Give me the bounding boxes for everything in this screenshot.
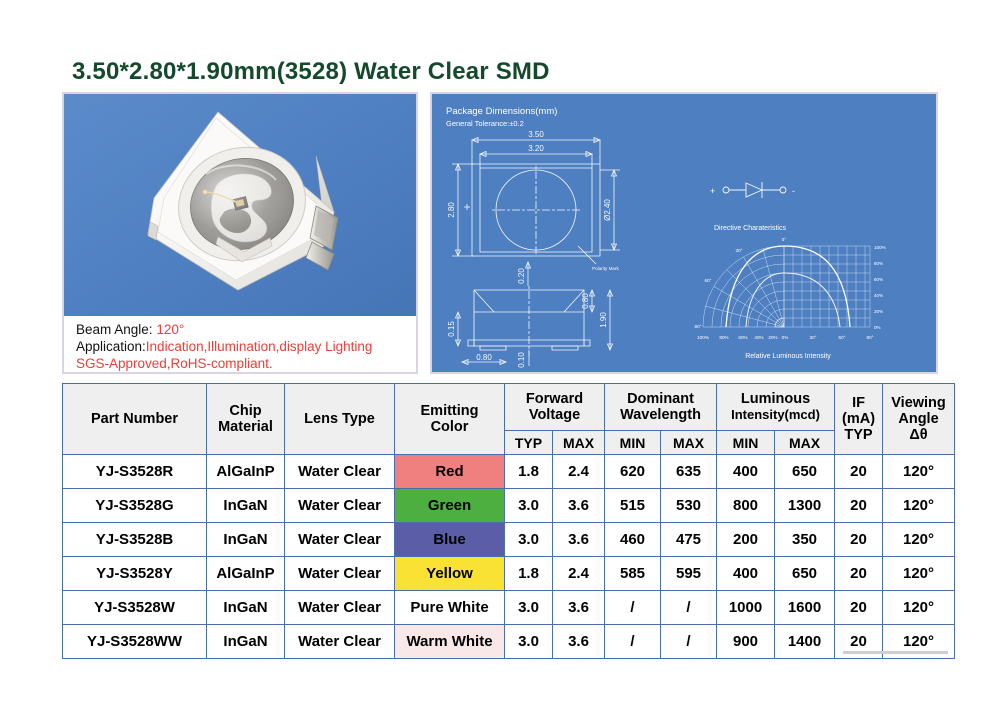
cell-lens-type: Water Clear xyxy=(285,557,395,591)
th-iv-max: MAX xyxy=(775,431,835,455)
chart-pct-right-80: 80% xyxy=(874,261,883,266)
directive-characteristics-chart: Directive Charateristics xyxy=(695,225,886,360)
cell-wl-max: 595 xyxy=(661,557,717,591)
chart-angle-60-upper: 60° xyxy=(705,278,712,283)
dim-lens-diameter: Ø2.40 xyxy=(603,199,612,221)
cell-vf-max: 3.6 xyxy=(553,591,605,625)
cell-if-typ: 20 xyxy=(835,489,883,523)
th-vf-typ: TYP xyxy=(505,431,553,455)
th-wl-max: MAX xyxy=(661,431,717,455)
cell-wl-min: 585 xyxy=(605,557,661,591)
chart-angle-90-lower: 90° xyxy=(867,335,874,340)
cell-emitting-color: Green xyxy=(395,489,505,523)
dim-body-height: 0.80 xyxy=(581,293,590,309)
th-lens-type: Lens Type xyxy=(285,384,395,455)
cell-chip-material: AlGaInP xyxy=(207,557,285,591)
cell-iv-min: 900 xyxy=(717,625,775,659)
th-if: IF(mA)TYP xyxy=(835,384,883,455)
cell-wl-min: 620 xyxy=(605,455,661,489)
diode-symbol: + - xyxy=(710,182,795,198)
cell-part-number: YJ-S3528W xyxy=(63,591,207,625)
package-dimension-drawing: Package Dimensions(mm) General Tolerance… xyxy=(432,94,936,372)
dim-width-outer: 3.50 xyxy=(528,130,544,139)
cell-iv-max: 1600 xyxy=(775,591,835,625)
cell-chip-material: InGaN xyxy=(207,523,285,557)
application-label: Application: xyxy=(76,339,146,354)
chart-angle-90-upper: 90° xyxy=(695,324,702,329)
cell-lens-type: Water Clear xyxy=(285,591,395,625)
cell-part-number: YJ-S3528Y xyxy=(63,557,207,591)
cell-wl-max: / xyxy=(661,625,717,659)
chart-angle-60-lower: 60° xyxy=(839,335,846,340)
scan-artifact-line xyxy=(843,651,948,654)
cell-chip-material: AlGaInP xyxy=(207,455,285,489)
cell-chip-material: InGaN xyxy=(207,625,285,659)
dim-pad-length: 0.80 xyxy=(476,353,492,362)
cell-iv-min: 200 xyxy=(717,523,775,557)
cell-vf-typ: 3.0 xyxy=(505,489,553,523)
chart-pct-bottom-80: 80% xyxy=(719,335,728,340)
chart-pct-bottom-40: 40% xyxy=(754,335,763,340)
cell-viewing-angle: 120° xyxy=(883,455,955,489)
drawing-tolerance: General Tolerance:±0.2 xyxy=(446,119,524,128)
cell-vf-max: 3.6 xyxy=(553,489,605,523)
th-part-number: Part Number xyxy=(63,384,207,455)
chart-pct-right-100: 100% xyxy=(874,245,886,250)
compliance-line: SGS-Approved,RoHS-compliant. xyxy=(76,355,416,372)
cell-iv-min: 1000 xyxy=(717,591,775,625)
cell-viewing-angle: 120° xyxy=(883,523,955,557)
table-row: YJ-S3528WWInGaNWater ClearWarm White3.03… xyxy=(63,625,955,659)
beam-angle-label: Beam Angle: xyxy=(76,322,153,337)
cell-viewing-angle: 120° xyxy=(883,489,955,523)
cell-iv-min: 400 xyxy=(717,455,775,489)
th-chip-material: ChipMaterial xyxy=(207,384,285,455)
cell-vf-max: 3.6 xyxy=(553,523,605,557)
th-dominant-wavelength: DominantWavelength xyxy=(605,384,717,431)
dim-total-height: 1.90 xyxy=(599,312,608,328)
cell-wl-max: 475 xyxy=(661,523,717,557)
product-photo-panel: Beam Angle: 120° Application:Indication,… xyxy=(62,92,418,374)
dim-standoff: 0.15 xyxy=(447,321,456,337)
diode-anode-label: + xyxy=(710,186,715,196)
cell-part-number: YJ-S3528R xyxy=(63,455,207,489)
chart-angle-30-lower: 30° xyxy=(810,335,817,340)
chart-pct-right-0: 0% xyxy=(874,325,881,330)
cell-chip-material: InGaN xyxy=(207,591,285,625)
datasheet-page: 3.50*2.80*1.90mm(3528) Water Clear SMD xyxy=(0,0,1000,720)
cell-emitting-color: Pure White xyxy=(395,591,505,625)
chart-pct-right-60: 60% xyxy=(874,277,883,282)
cell-iv-max: 650 xyxy=(775,557,835,591)
cell-iv-max: 1300 xyxy=(775,489,835,523)
table-row: YJ-S3528YAlGaInPWater ClearYellow1.82.45… xyxy=(63,557,955,591)
cell-vf-typ: 3.0 xyxy=(505,591,553,625)
cell-vf-typ: 1.8 xyxy=(505,455,553,489)
cell-if-typ: 20 xyxy=(835,591,883,625)
beam-angle-value: 120° xyxy=(156,322,184,337)
cell-iv-max: 350 xyxy=(775,523,835,557)
cell-wl-min: / xyxy=(605,625,661,659)
chart-pct-right-40: 40% xyxy=(874,293,883,298)
cell-vf-max: 3.6 xyxy=(553,625,605,659)
table-row: YJ-S3528WInGaNWater ClearPure White3.03.… xyxy=(63,591,955,625)
chart-pct-bottom-100: 100% xyxy=(697,335,709,340)
cell-iv-max: 1400 xyxy=(775,625,835,659)
table-row: YJ-S3528BInGaNWater ClearBlue3.03.646047… xyxy=(63,523,955,557)
cell-lens-type: Water Clear xyxy=(285,489,395,523)
diode-cathode-label: - xyxy=(792,186,795,196)
specification-table: Part Number ChipMaterial Lens Type Emitt… xyxy=(62,383,955,659)
dim-pad-gap: 0.20 xyxy=(517,268,526,284)
cell-vf-typ: 3.0 xyxy=(505,625,553,659)
cell-vf-max: 2.4 xyxy=(553,455,605,489)
cell-viewing-angle: 120° xyxy=(883,557,955,591)
cell-lens-type: Water Clear xyxy=(285,523,395,557)
dim-width-inner: 3.20 xyxy=(528,144,544,153)
cell-part-number: YJ-S3528G xyxy=(63,489,207,523)
cell-if-typ: 20 xyxy=(835,523,883,557)
cell-emitting-color: Warm White xyxy=(395,625,505,659)
cell-iv-max: 650 xyxy=(775,455,835,489)
chart-pct-right-20: 20% xyxy=(874,309,883,314)
chart-xlabel: Relative Luminous Intensity xyxy=(745,353,831,360)
cell-chip-material: InGaN xyxy=(207,489,285,523)
cell-emitting-color: Red xyxy=(395,455,505,489)
th-wl-min: MIN xyxy=(605,431,661,455)
drawing-heading: Package Dimensions(mm) xyxy=(446,106,557,117)
th-viewing-angle: ViewingAngleΔθ xyxy=(883,384,955,455)
cell-if-typ: 20 xyxy=(835,557,883,591)
table-row: YJ-S3528RAlGaInPWater ClearRed1.82.46206… xyxy=(63,455,955,489)
cell-vf-typ: 1.8 xyxy=(505,557,553,591)
application-line: Application:Indication,Illumination,disp… xyxy=(76,338,416,355)
cell-emitting-color: Yellow xyxy=(395,557,505,591)
cell-iv-min: 400 xyxy=(717,557,775,591)
cell-wl-min: 515 xyxy=(605,489,661,523)
cell-vf-typ: 3.0 xyxy=(505,523,553,557)
application-value: Indication,Illumination,display Lighting xyxy=(146,339,373,354)
spec-text-block: Beam Angle: 120° Application:Indication,… xyxy=(64,316,416,372)
table-header-row-1: Part Number ChipMaterial Lens Type Emitt… xyxy=(63,384,955,431)
th-vf-max: MAX xyxy=(553,431,605,455)
cell-viewing-angle: 120° xyxy=(883,591,955,625)
chart-pct-bottom-0: 0% xyxy=(782,335,789,340)
cell-wl-min: / xyxy=(605,591,661,625)
cell-vf-max: 2.4 xyxy=(553,557,605,591)
chart-angle-30-upper: 30° xyxy=(736,248,743,253)
cell-if-typ: 20 xyxy=(835,455,883,489)
cell-lens-type: Water Clear xyxy=(285,625,395,659)
cell-wl-max: 530 xyxy=(661,489,717,523)
cell-lens-type: Water Clear xyxy=(285,455,395,489)
package-drawing-panel: Package Dimensions(mm) General Tolerance… xyxy=(430,92,938,374)
th-emitting-color: EmittingColor xyxy=(395,384,505,455)
th-forward-voltage: ForwardVoltage xyxy=(505,384,605,431)
chart-pct-bottom-60: 60% xyxy=(738,335,747,340)
chart-pct-bottom-20: 20% xyxy=(768,335,777,340)
page-title: 3.50*2.80*1.90mm(3528) Water Clear SMD xyxy=(72,58,550,86)
cell-part-number: YJ-S3528WW xyxy=(63,625,207,659)
cell-iv-min: 800 xyxy=(717,489,775,523)
cell-wl-max: 635 xyxy=(661,455,717,489)
chart-angle-0: 0° xyxy=(782,237,787,242)
led-photo xyxy=(64,94,416,316)
th-iv-min: MIN xyxy=(717,431,775,455)
th-luminous-intensity: LuminousIntensity(mcd) xyxy=(717,384,835,431)
dim-pad-thickness: 0.10 xyxy=(517,352,526,368)
beam-angle-line: Beam Angle: 120° xyxy=(76,321,416,338)
cell-wl-max: / xyxy=(661,591,717,625)
polarity-mark-label: Polarity Mark xyxy=(592,266,620,271)
table-body: YJ-S3528RAlGaInPWater ClearRed1.82.46206… xyxy=(63,455,955,659)
led-photo-image xyxy=(64,94,416,316)
cell-emitting-color: Blue xyxy=(395,523,505,557)
cell-part-number: YJ-S3528B xyxy=(63,523,207,557)
table-row: YJ-S3528GInGaNWater ClearGreen3.03.65155… xyxy=(63,489,955,523)
chart-title: Directive Charateristics xyxy=(714,225,786,232)
dim-height-outer: 2.80 xyxy=(447,202,456,218)
cell-wl-min: 460 xyxy=(605,523,661,557)
